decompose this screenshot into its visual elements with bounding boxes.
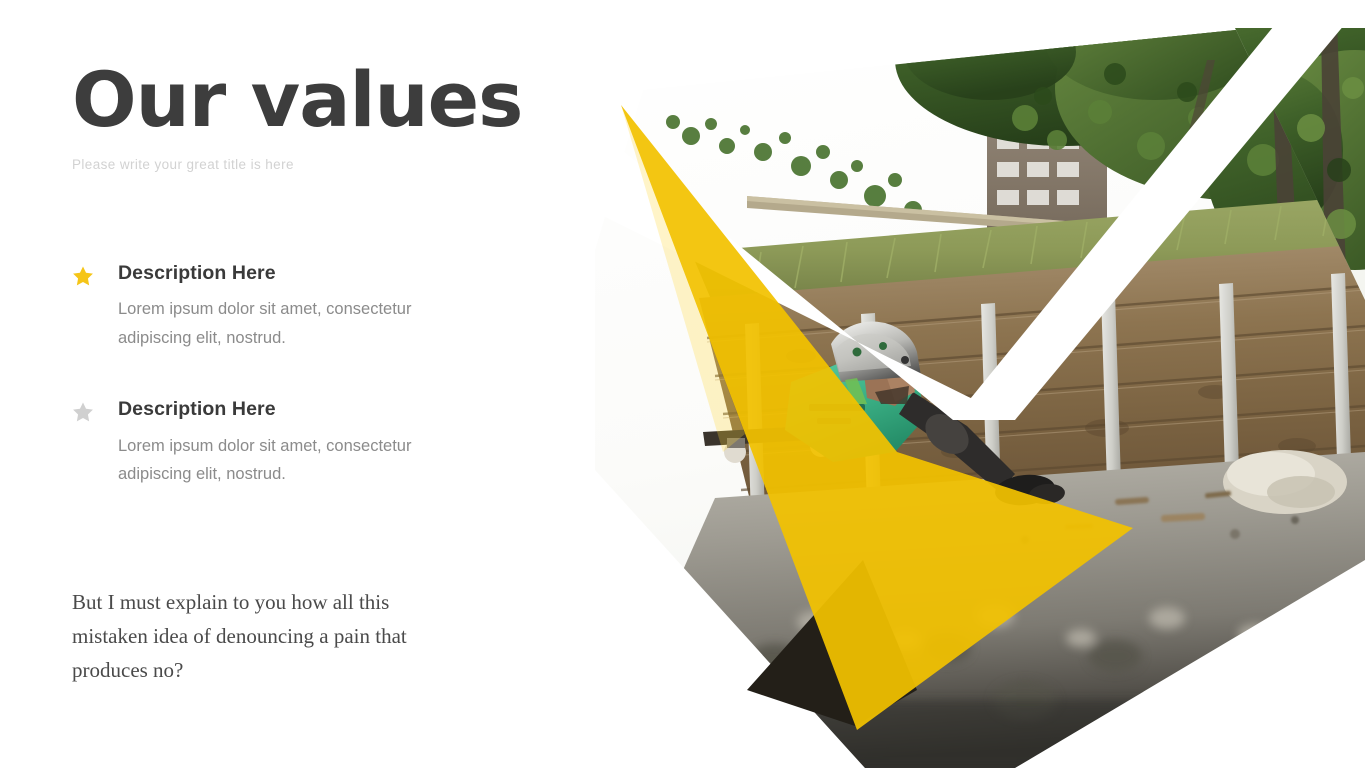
boulder [1223, 450, 1347, 514]
quote-text: But I must explain to you how all this m… [72, 585, 452, 687]
star-icon [72, 265, 94, 287]
feature-body: Lorem ipsum dolor sit amet, consectetur … [118, 432, 478, 489]
star-icon [72, 401, 94, 423]
feature-body: Lorem ipsum dolor sit amet, consectetur … [118, 295, 478, 352]
collage-svg [595, 0, 1365, 768]
feature-heading: Description Here [118, 398, 542, 420]
slide-text-column: Our values Please write your great title… [72, 0, 542, 768]
feature-item-2[interactable]: Description Here Lorem ipsum dolor sit a… [72, 398, 542, 488]
page-subtitle: Please write your great title is here [72, 157, 294, 172]
feature-list: Description Here Lorem ipsum dolor sit a… [72, 262, 542, 534]
photo-collage-graphic [595, 0, 1365, 768]
feature-heading: Description Here [118, 262, 542, 284]
page-title: Our values [72, 62, 522, 138]
feature-item-1[interactable]: Description Here Lorem ipsum dolor sit a… [72, 262, 542, 352]
